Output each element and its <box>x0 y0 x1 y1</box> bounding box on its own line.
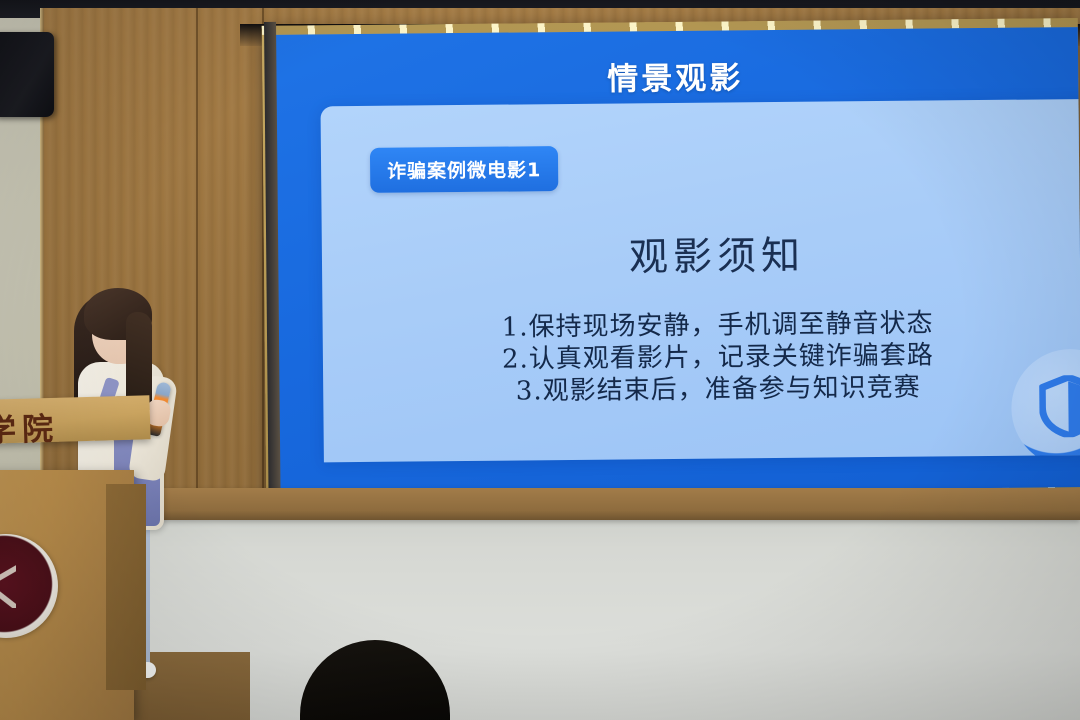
presentation-slide[interactable]: 情景观影 诈骗案例微电影1 观影须知 1.保持现场安静，手机调至静音状态 2.认… <box>272 27 1080 495</box>
status-badge: 诈骗案例微电影1 <box>370 146 559 193</box>
shield-icon <box>1039 375 1080 438</box>
instruction-list: 1.保持现场安静，手机调至静音状态 2.认真观看影片，记录关键诈骗套路 3.观影… <box>322 306 1080 410</box>
loudspeaker-icon <box>0 32 54 117</box>
wall-seam <box>196 8 198 528</box>
emblem-mark <box>0 562 16 608</box>
podium-nameplate-text: 播学院 <box>0 402 119 452</box>
slide-content-card: 诈骗案例微电影1 观影须知 1.保持现场安静，手机调至静音状态 2.认真观看影片… <box>320 99 1080 463</box>
lecture-hall-scene: 情景观影 诈骗案例微电影1 观影须知 1.保持现场安静，手机调至静音状态 2.认… <box>0 0 1080 720</box>
list-item: 3.观影结束后，准备参与知识竞赛 <box>323 370 1080 410</box>
page-title: 观影须知 <box>322 222 1080 286</box>
brand-logo <box>1011 349 1080 463</box>
projection-screen-frame: 情景观影 诈骗案例微电影1 观影须知 1.保持现场安静，手机调至静音状态 2.认… <box>262 18 1080 504</box>
podium-side-panel <box>106 484 146 690</box>
slide-title: 情景观影 <box>272 49 1078 102</box>
